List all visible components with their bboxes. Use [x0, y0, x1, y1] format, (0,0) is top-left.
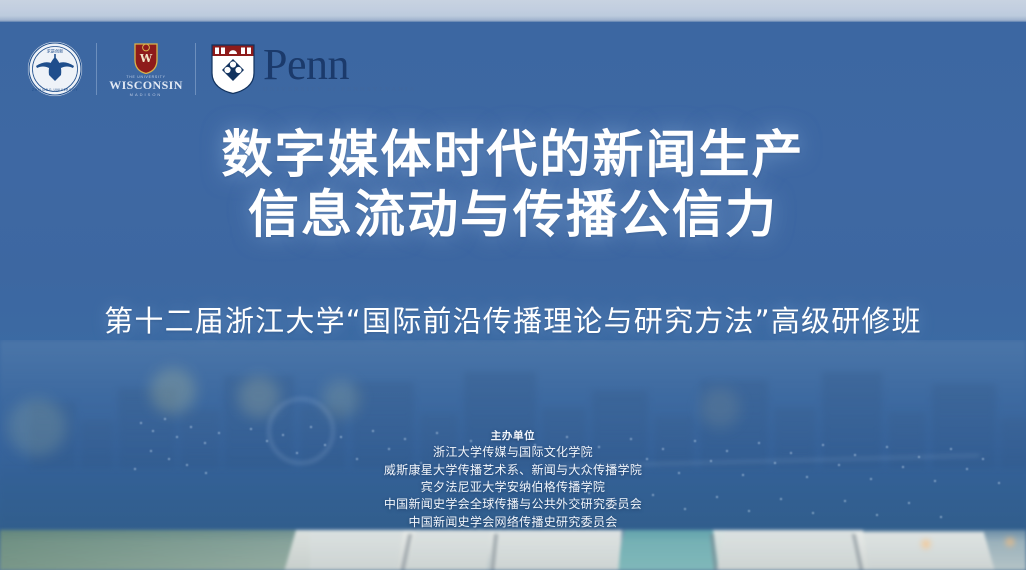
title-line-1: 数字媒体时代的新闻生产	[0, 126, 1026, 186]
organizer-line: 威斯康星大学传播艺术系、新闻与大众传播学院	[0, 462, 1026, 479]
organizers-heading: 主办单位	[0, 428, 1026, 444]
logo-zhejiang-university: 求是创新 ZHEJIANG UNIVERSITY	[28, 36, 82, 102]
logo-divider-1	[96, 43, 97, 95]
organizer-line: 浙江大学传媒与国际文化学院	[0, 444, 1026, 461]
logo-divider-2	[195, 43, 196, 95]
organizer-line: 中国新闻史学会全球传播与公共外交研究委员会	[0, 496, 1026, 513]
wisconsin-subtitle: MADISON	[130, 93, 163, 97]
organizer-line: 宾夕法尼亚大学安纳伯格传播学院	[0, 479, 1026, 496]
svg-text:ZHEJIANG UNIVERSITY: ZHEJIANG UNIVERSITY	[32, 88, 79, 92]
main-title: 数字媒体时代的新闻生产 信息流动与传播公信力	[0, 126, 1026, 246]
wisconsin-wordmark: WISCONSIN	[109, 79, 183, 92]
penn-subtitle: UNIVERSITY of PENNSYLVANIA	[263, 86, 416, 93]
wisconsin-crest-icon: W	[133, 42, 159, 74]
penn-wordmark: Penn	[263, 45, 416, 85]
organizers-block: 主办单位 浙江大学传媒与国际文化学院 威斯康星大学传播艺术系、新闻与大众传播学院…	[0, 428, 1026, 531]
slide-content: 求是创新 ZHEJIANG UNIVERSITY W THE UNIVERSIT…	[0, 0, 1026, 570]
svg-text:W: W	[139, 52, 153, 65]
subtitle: 第十二届浙江大学“国际前沿传播理论与研究方法”高级研修班	[0, 298, 1026, 340]
conference-title-slide: 求是创新 ZHEJIANG UNIVERSITY W THE UNIVERSIT…	[0, 0, 1026, 570]
penn-shield-icon	[210, 43, 256, 95]
sponsor-logo-bar: 求是创新 ZHEJIANG UNIVERSITY W THE UNIVERSIT…	[28, 36, 416, 102]
zhejiang-university-seal-icon: 求是创新 ZHEJIANG UNIVERSITY	[28, 42, 82, 96]
organizer-line: 中国新闻史学会网络传播史研究委员会	[0, 514, 1026, 531]
logo-university-of-wisconsin: W THE UNIVERSITY WISCONSIN MADISON	[111, 36, 181, 102]
logo-university-of-pennsylvania: Penn UNIVERSITY of PENNSYLVANIA	[210, 36, 416, 102]
svg-text:求是创新: 求是创新	[47, 48, 64, 55]
title-line-2: 信息流动与传播公信力	[0, 186, 1026, 246]
